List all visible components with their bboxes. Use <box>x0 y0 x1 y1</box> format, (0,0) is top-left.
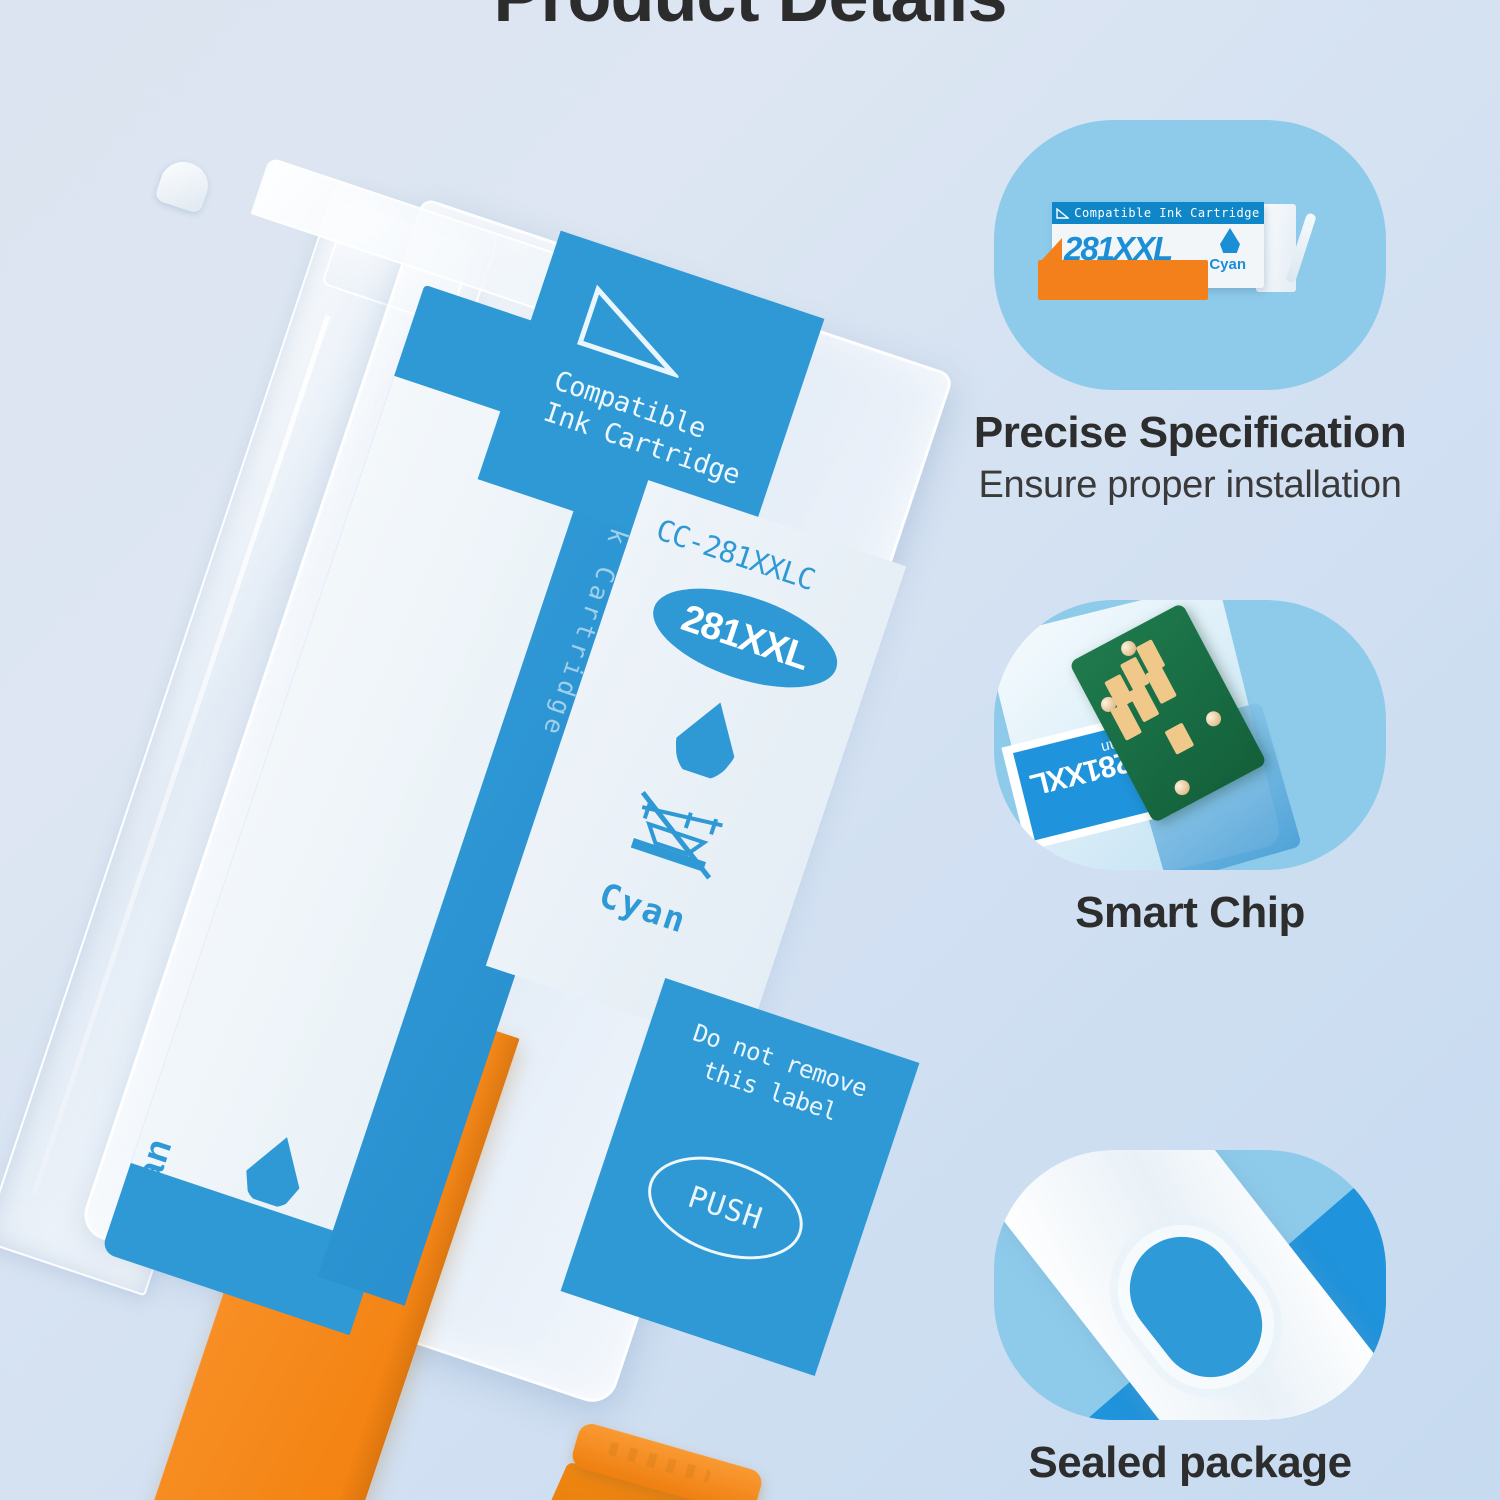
triangle-warning-icon <box>572 280 699 383</box>
top-face-text: Compatible Ink Cartridge <box>539 365 754 492</box>
push-indicator: PUSH <box>635 1138 817 1278</box>
mini-color-name: Cyan <box>1209 256 1246 273</box>
pcb-via <box>1172 777 1192 797</box>
page-title: Product Details <box>0 0 1500 38</box>
mini-cartridge-strip: Compatible Ink Cartridge <box>1052 202 1264 224</box>
model-pill-label: 281XXL <box>676 597 814 679</box>
clip-nub <box>154 156 214 215</box>
push-label: PUSH <box>684 1179 767 1236</box>
ink-drop-icon <box>666 693 750 789</box>
cartridge-hero-image: 281XXL Cyan Compatible Ink Cartridge Com… <box>60 150 880 1500</box>
ink-drop-icon <box>1220 228 1240 254</box>
mini-cartridge-illustration: Compatible Ink Cartridge 281XXL Cyan <box>1052 202 1312 298</box>
feature-smart-chip: 281XXL Cyan Smart Chip <box>880 600 1500 944</box>
feature-list: Compatible Ink Cartridge 281XXL Cyan Pre… <box>880 120 1500 1500</box>
mini-strip-text: Compatible Ink Cartridge <box>1074 206 1259 220</box>
no-disassemble-icon <box>610 784 740 895</box>
do-not-remove-warning: Do not remove this label <box>665 1012 885 1140</box>
model-pill: 281XXL <box>641 569 849 708</box>
mini-orange-cover <box>1038 260 1208 300</box>
feature-title: Sealed package <box>880 1438 1500 1488</box>
feature-subtitle: Ensure proper installation <box>880 464 1500 507</box>
pcb-pad <box>1164 722 1194 754</box>
feature-image-blob: Compatible Ink Cartridge 281XXL Cyan <box>994 120 1386 390</box>
feature-title: Smart Chip <box>880 888 1500 938</box>
feature-image-blob <box>994 1150 1386 1420</box>
feature-title: Precise Specification <box>880 408 1500 458</box>
pcb-via <box>1203 709 1223 729</box>
feature-precise-specification: Compatible Ink Cartridge 281XXL Cyan Pre… <box>880 120 1500 507</box>
triangle-warning-icon <box>1056 208 1069 219</box>
sealed-package-illustration <box>994 1150 1386 1420</box>
feature-image-blob: 281XXL Cyan <box>994 600 1386 870</box>
spec-color-name: Cyan <box>594 875 692 941</box>
feature-sealed-package: Sealed package <box>880 1150 1500 1494</box>
